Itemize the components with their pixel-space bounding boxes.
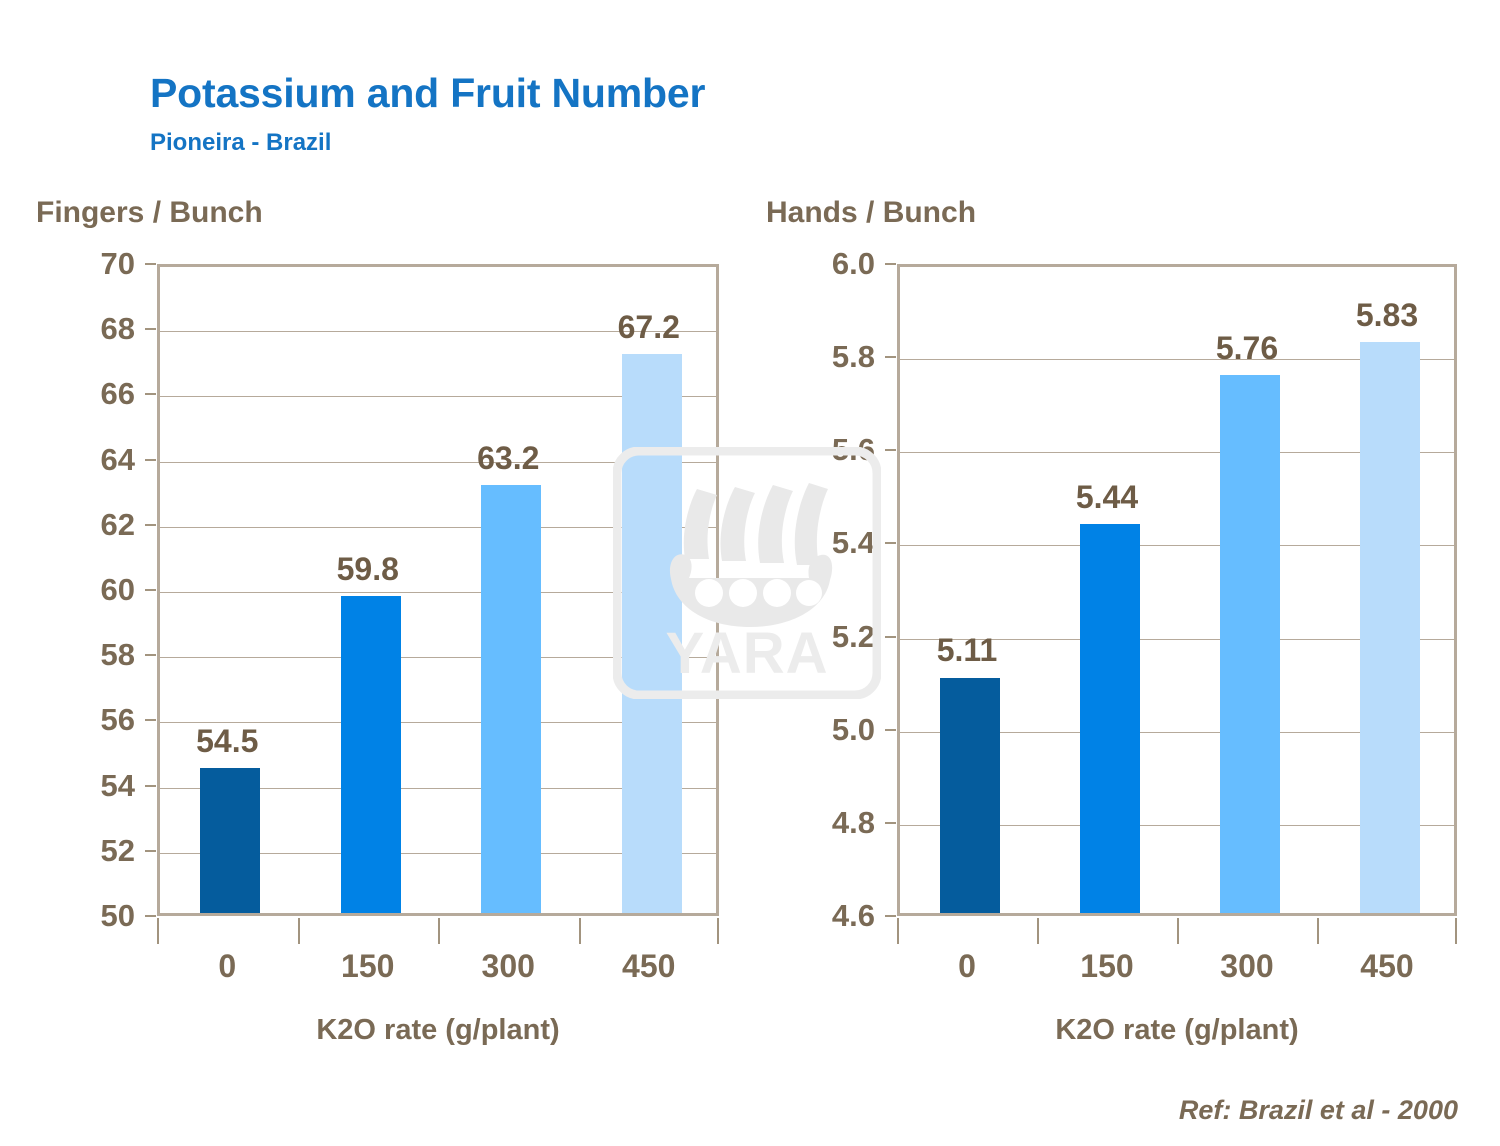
x-axis-tick — [298, 918, 300, 944]
y-axis-label: 68 — [101, 311, 135, 347]
y-axis-tick — [885, 822, 896, 824]
x-axis-tick — [1177, 918, 1179, 944]
x-axis-tick — [1317, 918, 1319, 944]
y-axis-tick — [885, 542, 896, 544]
bar-value-label: 5.11 — [937, 632, 998, 669]
y-axis-tick — [885, 263, 896, 265]
bar-value-label: 67.2 — [618, 309, 680, 346]
y-axis-tick — [145, 393, 156, 395]
y-axis-label: 56 — [101, 702, 135, 738]
y-axis-tick — [145, 459, 156, 461]
bar-hands-300[interactable] — [1220, 375, 1280, 913]
bar-hands-0[interactable] — [940, 678, 1000, 914]
y-axis-tick — [145, 915, 156, 917]
bar-fingers-300[interactable] — [481, 485, 541, 913]
bar-fingers-450[interactable] — [622, 354, 682, 913]
x-axis-tick — [1037, 918, 1039, 944]
y-axis-tick — [145, 785, 156, 787]
y-axis-label: 5.0 — [832, 712, 875, 748]
bar-hands-450[interactable] — [1360, 342, 1420, 913]
x-axis-tick — [438, 918, 440, 944]
y-axis-label: 5.8 — [832, 339, 875, 375]
y-axis-label: 5.6 — [832, 432, 875, 468]
y-axis-label: 4.6 — [832, 898, 875, 934]
x-axis-label: 300 — [1220, 948, 1273, 985]
plot-area-fingers — [157, 264, 719, 916]
chart-panel-fingers: Fingers / Bunch 505254565860626466687054… — [0, 0, 750, 1146]
x-axis-label: 450 — [1360, 948, 1413, 985]
x-axis-tick — [157, 918, 159, 944]
x-axis-tick — [717, 918, 719, 944]
x-axis-label: 150 — [341, 948, 394, 985]
y-axis-tick — [885, 729, 896, 731]
x-axis-tick — [1455, 918, 1457, 944]
y-axis-label: 6.0 — [832, 246, 875, 282]
y-axis-tick — [885, 636, 896, 638]
y-axis-tick — [145, 328, 156, 330]
bar-value-label: 59.8 — [337, 551, 399, 588]
y-axis-label: 66 — [101, 376, 135, 412]
plot-area-hands — [897, 264, 1457, 916]
y-axis-label: 5.4 — [832, 525, 875, 561]
bar-fingers-150[interactable] — [341, 596, 401, 913]
y-axis-label: 64 — [101, 442, 135, 478]
chart-title-fingers: Fingers / Bunch — [36, 196, 263, 230]
x-axis-label: 0 — [958, 948, 976, 985]
x-axis-title: K2O rate (g/plant) — [316, 1014, 559, 1047]
y-axis-label: 4.8 — [832, 805, 875, 841]
y-axis-tick — [145, 719, 156, 721]
y-axis-tick — [145, 263, 156, 265]
y-axis-label: 62 — [101, 507, 135, 543]
bar-value-label: 5.83 — [1356, 297, 1418, 334]
y-axis-tick — [885, 915, 896, 917]
x-axis-tick — [897, 918, 899, 944]
reference-note: Ref: Brazil et al - 2000 — [1179, 1095, 1458, 1126]
y-axis-tick — [145, 589, 156, 591]
x-axis-label: 0 — [218, 948, 236, 985]
y-axis-tick — [145, 524, 156, 526]
y-axis-tick — [145, 850, 156, 852]
bar-value-label: 5.76 — [1216, 330, 1278, 367]
chart-title-hands: Hands / Bunch — [766, 196, 976, 230]
bar-value-label: 54.5 — [196, 723, 258, 760]
y-axis-tick — [885, 449, 896, 451]
x-axis-tick — [579, 918, 581, 944]
chart-panel-hands: Hands / Bunch 4.64.85.05.25.45.65.86.05.… — [740, 0, 1500, 1146]
y-axis-label: 50 — [101, 898, 135, 934]
bar-value-label: 63.2 — [477, 440, 539, 477]
y-axis-tick — [145, 654, 156, 656]
y-axis-label: 52 — [101, 833, 135, 869]
y-axis-tick — [885, 356, 896, 358]
x-axis-title: K2O rate (g/plant) — [1055, 1014, 1298, 1047]
bar-fingers-0[interactable] — [200, 768, 260, 913]
x-axis-label: 150 — [1080, 948, 1133, 985]
y-axis-label: 70 — [101, 246, 135, 282]
x-axis-label: 300 — [482, 948, 535, 985]
bar-hands-150[interactable] — [1080, 524, 1140, 913]
bar-value-label: 5.44 — [1076, 479, 1138, 516]
y-axis-label: 58 — [101, 637, 135, 673]
y-axis-label: 60 — [101, 572, 135, 608]
y-axis-label: 54 — [101, 768, 135, 804]
x-axis-label: 450 — [622, 948, 675, 985]
y-axis-label: 5.2 — [832, 619, 875, 655]
